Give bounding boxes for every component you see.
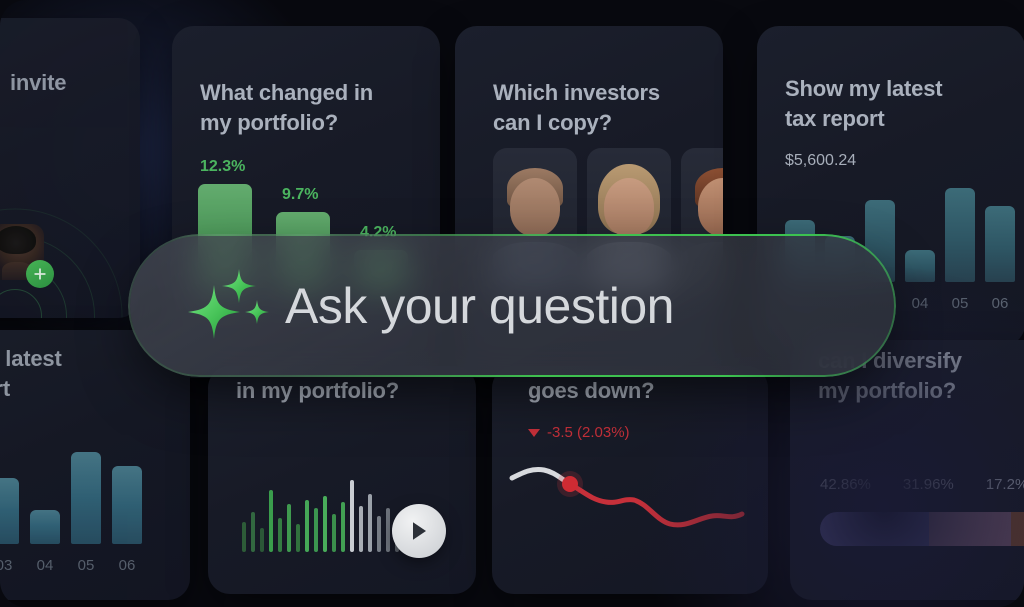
title-line-2: my portfolio? — [818, 376, 962, 406]
card-trend-title: goes down? — [528, 376, 654, 406]
title-line-2: tax report — [785, 104, 942, 134]
card-report-title: my latest port — [0, 344, 62, 404]
bar-4 — [112, 466, 142, 544]
tick-2: 05 — [71, 557, 101, 574]
bar-label-0: 12.3% — [200, 158, 245, 176]
wave-bar — [278, 518, 282, 552]
card-invite-title: invite — [10, 68, 66, 98]
card-investors-title: Which investors can I copy? — [493, 78, 660, 138]
tick-3: 06 — [112, 557, 142, 574]
tick-1: 04 — [30, 557, 60, 574]
title-line-1: my latest — [0, 344, 62, 374]
bar-5 — [985, 206, 1015, 282]
wave-bar — [260, 528, 264, 552]
title-line-1: What changed in — [200, 78, 373, 108]
allocation-segment-2 — [1011, 512, 1024, 546]
allocation-segment-0 — [820, 512, 929, 546]
bar-1 — [0, 478, 19, 544]
wave-bar — [368, 494, 372, 552]
wave-bar — [251, 512, 255, 552]
allocation-label-1: 31.96% — [903, 476, 954, 493]
allocation-segment-1 — [929, 512, 1011, 546]
title-line-1: Show my latest — [785, 74, 942, 104]
card-tax-title: Show my latest tax report — [785, 74, 942, 134]
delta-value: -3.5 (2.03%) — [547, 424, 630, 441]
title-line-2: port — [0, 374, 62, 404]
plus-icon[interactable] — [26, 260, 54, 288]
title-line-2: can I copy? — [493, 108, 660, 138]
wave-bar — [323, 496, 327, 552]
wave-bar — [386, 508, 390, 552]
wave-bar — [242, 522, 246, 552]
tick-0: 03 — [0, 557, 19, 574]
card-portfolio-title: What changed in my portfolio? — [200, 78, 373, 138]
wave-bar — [305, 500, 309, 552]
tick-1: 05 — [945, 295, 975, 312]
bar-label-1: 9.7% — [282, 186, 318, 204]
bar-4 — [945, 188, 975, 282]
card-voice-title: in my portfolio? — [236, 376, 399, 406]
card-latest-report[interactable]: my latest port 4 03 04 05 06 — [0, 330, 190, 600]
wave-bar — [269, 490, 273, 552]
ask-question-label: Ask your question — [285, 277, 674, 335]
allocation-label-2: 17.2% — [986, 476, 1024, 493]
avatar[interactable] — [0, 224, 44, 280]
bar-3 — [71, 452, 101, 544]
app-canvas: invite What changed in my portfolio? 12.… — [0, 0, 1024, 607]
wave-bar — [332, 514, 336, 552]
tick-0: 04 — [905, 295, 935, 312]
play-icon[interactable] — [392, 504, 446, 558]
card-trend-down[interactable]: goes down? -3.5 (2.03%) — [492, 366, 768, 594]
report-bar-chart: 03 04 05 06 — [0, 444, 168, 544]
allocation-label-0: 42.86% — [820, 476, 871, 493]
bar-3 — [905, 250, 935, 282]
bar-2 — [30, 510, 60, 544]
ask-question-input[interactable]: Ask your question — [128, 234, 896, 377]
wave-bar — [359, 506, 363, 552]
wave-bar — [350, 480, 354, 552]
allocation-bar[interactable] — [820, 512, 1024, 546]
allocation-labels: 42.86% 31.96% 17.2% — [820, 476, 1024, 493]
caret-down-icon — [528, 429, 540, 437]
card-invite[interactable]: invite — [0, 18, 140, 318]
status-badge: -3.5 (2.03%) — [528, 424, 630, 441]
wave-bar — [287, 504, 291, 552]
audio-waveform[interactable] — [242, 476, 392, 552]
title-line-1: Which investors — [493, 78, 660, 108]
tick-2: 06 — [985, 295, 1015, 312]
wave-bar — [377, 516, 381, 552]
wave-bar — [314, 508, 318, 552]
wave-bar — [296, 524, 300, 552]
card-voice-note[interactable]: in my portfolio? — [208, 366, 476, 594]
card-diversify[interactable]: can I diversify my portfolio? 42.86% 31.… — [790, 340, 1024, 600]
trend-line-chart — [506, 444, 756, 564]
wave-bar — [341, 502, 345, 552]
sparkles-icon — [187, 267, 275, 345]
